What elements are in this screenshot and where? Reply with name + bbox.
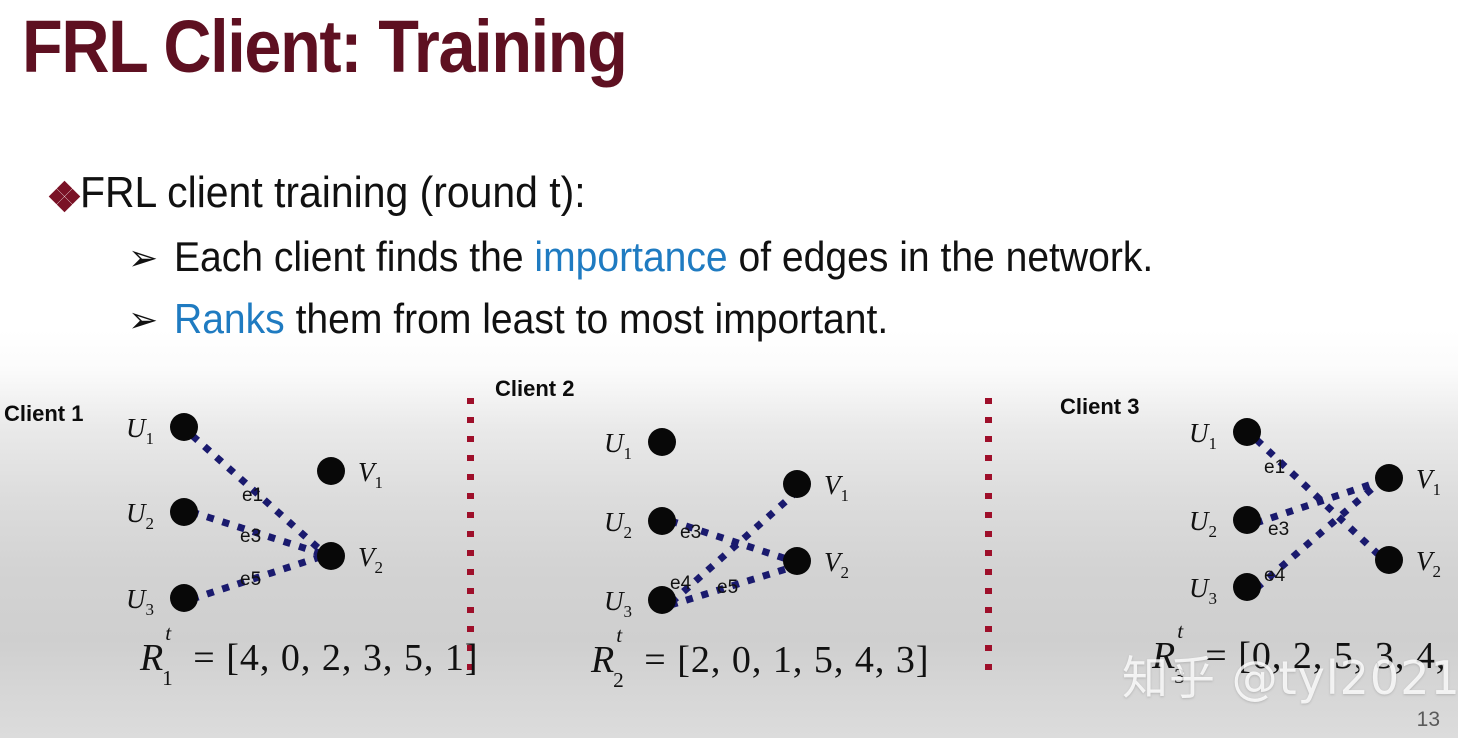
edge-e3	[1259, 481, 1381, 522]
edge-label-e1: e1	[242, 485, 263, 506]
bullet-level2-2-label: Ranks them from least to most important.	[174, 298, 888, 340]
node-label-u1: U1	[126, 413, 154, 448]
bullet-level1: FRL client training (round t):	[50, 171, 624, 217]
edge-label-e5: e5	[717, 577, 738, 598]
node-u3	[1233, 573, 1261, 601]
node-v2	[783, 547, 811, 575]
text-segment: Each client finds the	[174, 233, 534, 280]
rank-equals: =	[1205, 635, 1227, 677]
client-2-rank-formula: Rt2 = [2, 0, 1, 5, 4, 3]	[591, 638, 930, 687]
rank-superscript: t	[1177, 619, 1184, 643]
node-label-v2: V2	[824, 547, 849, 582]
client-2-label: Client 2	[495, 376, 574, 402]
node-u2	[648, 507, 676, 535]
highlight-importance: importance	[534, 233, 727, 280]
rank-superscript: t	[616, 623, 623, 647]
arrow-bullet-icon: ➢	[128, 240, 174, 276]
node-label-v1: V1	[824, 470, 849, 505]
node-v1	[783, 470, 811, 498]
bullet-level2-1: ➢ Each client finds the importance of ed…	[128, 236, 1227, 278]
node-u2	[170, 498, 198, 526]
client-1-label: Client 1	[4, 401, 83, 427]
client-3-label: Client 3	[1060, 394, 1139, 420]
edge-label-e3: e3	[1268, 519, 1289, 540]
rank-symbol: R	[1152, 635, 1176, 677]
rank-values: [4, 0, 2, 3, 5, 1]	[226, 637, 478, 679]
node-label-v1: V1	[1416, 464, 1441, 499]
bullet-level1-label: FRL client training (round t):	[80, 171, 586, 215]
client-1-graph: .edg { stroke:#1a1a6e; stroke-width:7; s…	[100, 395, 430, 630]
rank-subscript: 1	[162, 666, 174, 690]
node-v1	[1375, 464, 1403, 492]
bullet-level2-1-label: Each client finds the importance of edge…	[174, 236, 1153, 278]
edge-label-e5: e5	[240, 569, 261, 590]
node-v1	[317, 457, 345, 485]
node-u1	[170, 413, 198, 441]
edge-label-e3: e3	[240, 526, 261, 547]
client-3-rank-formula: Rt3 = [0, 2, 5, 3, 4, 1]	[1152, 634, 1458, 683]
client-3-graph: .edg3 { stroke:#1a1a6e; stroke-width:7; …	[1160, 400, 1458, 618]
bullet-level2-2: ➢ Ranks them from least to most importan…	[128, 298, 942, 340]
node-v2	[317, 542, 345, 570]
rank-symbol: R	[140, 637, 164, 679]
rank-subscript: 3	[1174, 664, 1186, 688]
edge-label-e1: e1	[1264, 457, 1285, 478]
edge-label-e4: e4	[670, 573, 692, 594]
divider-dotted-2	[985, 398, 992, 682]
rank-superscript: t	[165, 621, 172, 645]
client-1-rank-formula: Rt1 = [4, 0, 2, 3, 5, 1]	[140, 636, 479, 685]
page-title: FRL Client: Training	[22, 4, 626, 89]
rank-symbol: R	[591, 639, 615, 681]
node-label-u3: U3	[1189, 573, 1217, 608]
rank-subscript: 2	[613, 668, 625, 692]
node-u1	[648, 428, 676, 456]
diamond-bullet-icon	[50, 181, 80, 217]
node-label-u1: U1	[604, 428, 632, 463]
node-u1	[1233, 418, 1261, 446]
node-v2	[1375, 546, 1403, 574]
rank-equals: =	[193, 637, 215, 679]
highlight-ranks: Ranks	[174, 295, 285, 342]
page-number: 13	[1417, 708, 1440, 732]
node-label-u3: U3	[126, 584, 154, 619]
text-segment: of edges in the network.	[728, 233, 1154, 280]
slide-canvas: FRL Client: Training FRL client training…	[0, 0, 1458, 738]
node-label-u1: U1	[1189, 418, 1217, 453]
node-u2	[1233, 506, 1261, 534]
node-u3	[170, 584, 198, 612]
rank-values: [0, 2, 5, 3, 4, 1]	[1238, 635, 1458, 677]
node-label-v2: V2	[358, 542, 383, 577]
rank-equals: =	[644, 639, 666, 681]
arrow-bullet-icon: ➢	[128, 302, 174, 338]
edge-label-e3: e3	[680, 522, 701, 543]
edge-label-e4: e4	[1264, 565, 1286, 586]
client-2-graph: .edg2 { stroke:#1a1a6e; stroke-width:7; …	[580, 408, 910, 640]
node-label-v2: V2	[1416, 546, 1441, 581]
node-label-u2: U2	[604, 507, 632, 542]
rank-values: [2, 0, 1, 5, 4, 3]	[677, 639, 929, 681]
node-label-u2: U2	[126, 498, 154, 533]
text-segment: them from least to most important.	[285, 295, 888, 342]
node-label-v1: V1	[358, 457, 383, 492]
node-label-u3: U3	[604, 586, 632, 621]
node-label-u2: U2	[1189, 506, 1217, 541]
